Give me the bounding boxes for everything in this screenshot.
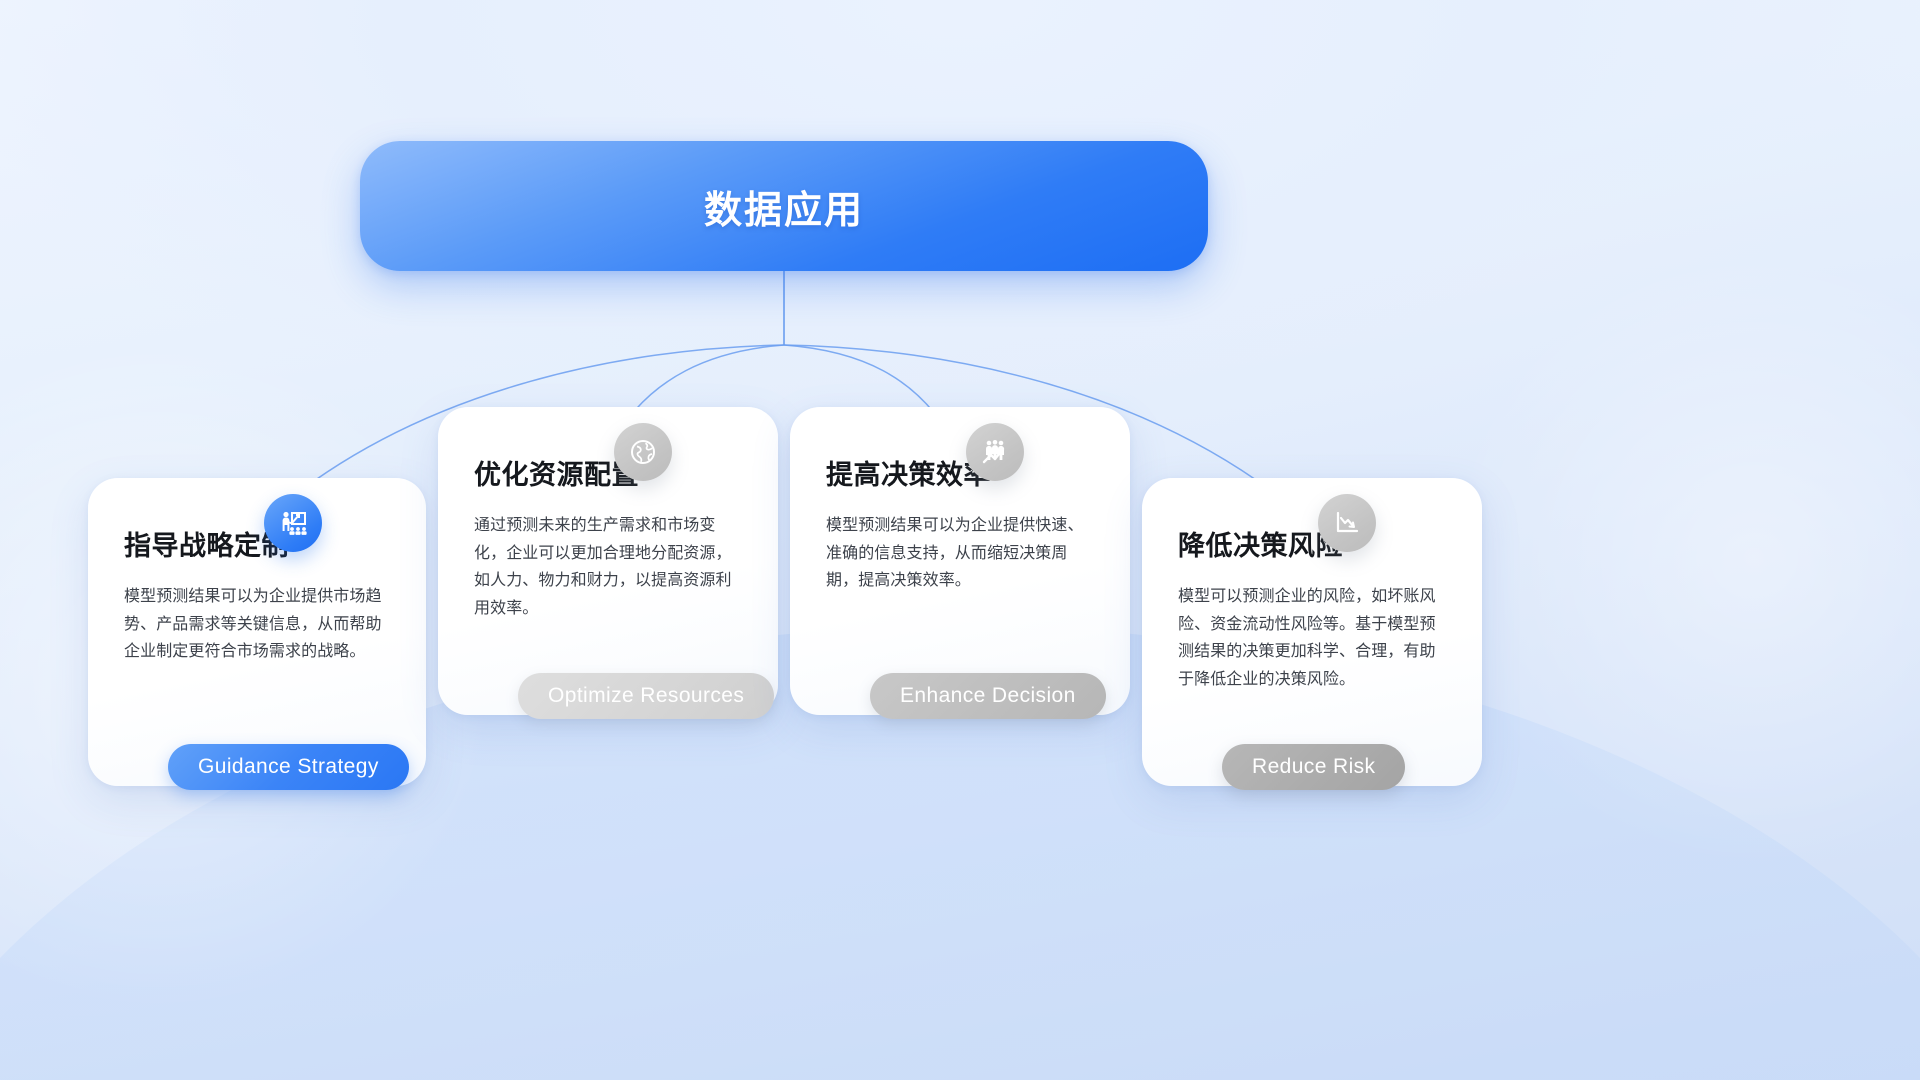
people-growth-chart-icon	[966, 423, 1024, 481]
card-reduce-risk[interactable]: 降低决策风险 模型可以预测企业的风险，如坏账风险、资金流动性风险等。基于模型预测…	[1142, 478, 1482, 786]
card-badge-guidance-strategy[interactable]: Guidance Strategy	[168, 744, 409, 790]
card-guidance-strategy[interactable]: 指导战略定制 模型预测结果可以为企业提供市场趋势、产品需求等关键信息，从而帮助企…	[88, 478, 426, 786]
diagram-canvas: 数据应用 指导战略定制 模型预测结果可以为企业提供市场趋势、产品需求等关键信息，…	[0, 0, 1920, 1080]
card-title: 优化资源配置	[474, 453, 742, 492]
card-body: 通过预测未来的生产需求和市场变化，企业可以更加合理地分配资源，如人力、物力和财力…	[474, 512, 742, 622]
card-title: 提高决策效率	[826, 453, 1094, 492]
card-body: 模型预测结果可以为企业提供快速、准确的信息支持，从而缩短决策周期，提高决策效率。	[826, 512, 1094, 595]
presenter-board-icon	[264, 494, 322, 552]
card-body: 模型可以预测企业的风险，如坏账风险、资金流动性风险等。基于模型预测结果的决策更加…	[1178, 583, 1446, 693]
card-title: 降低决策风险	[1178, 524, 1446, 563]
card-badge-optimize-resources[interactable]: Optimize Resources	[518, 673, 774, 719]
card-optimize-resources[interactable]: 优化资源配置 通过预测未来的生产需求和市场变化，企业可以更加合理地分配资源，如人…	[438, 407, 778, 715]
card-body: 模型预测结果可以为企业提供市场趋势、产品需求等关键信息，从而帮助企业制定更符合市…	[124, 583, 390, 666]
declining-chart-icon	[1318, 494, 1376, 552]
root-node[interactable]: 数据应用	[360, 141, 1208, 271]
card-title: 指导战略定制	[124, 524, 390, 563]
root-node-label: 数据应用	[704, 179, 864, 234]
globe-icon	[614, 423, 672, 481]
card-badge-enhance-decision[interactable]: Enhance Decision	[870, 673, 1106, 719]
card-badge-reduce-risk[interactable]: Reduce Risk	[1222, 744, 1405, 790]
card-enhance-decision[interactable]: 提高决策效率 模型预测结果可以为企业提供快速、准确的信息支持，从而缩短决策周期，…	[790, 407, 1130, 715]
